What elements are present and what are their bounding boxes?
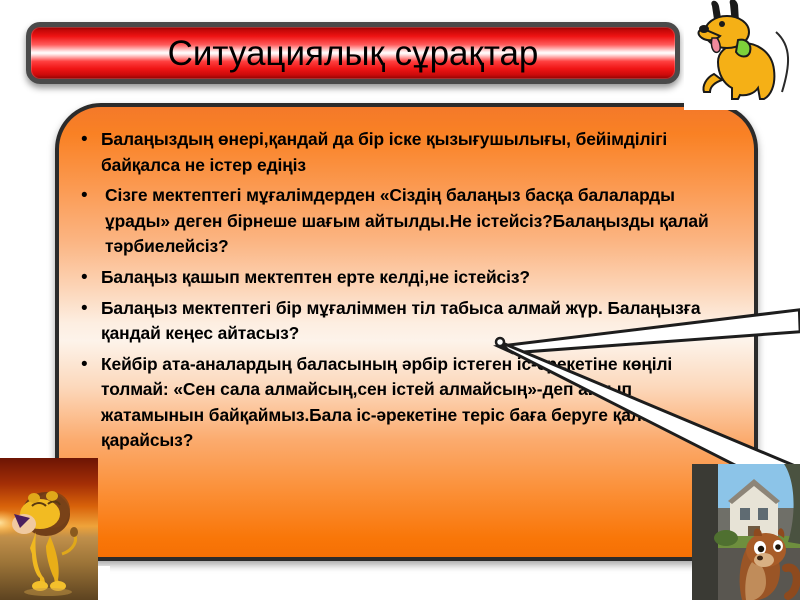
list-item-text: Сізге мектептегі мұғалімдерден «Сіздің б…: [101, 183, 736, 260]
bullet-marker-icon: •: [81, 265, 101, 291]
list-item-text: Балаңыз мектептегі бір мұғаліммен тіл та…: [101, 296, 736, 347]
page-title: Ситуациялық сұрақтар: [168, 36, 539, 71]
cartoon-dog-picture: [684, 0, 800, 110]
bullet-marker-icon: •: [81, 352, 101, 378]
list-item-text: Балаңыздың өнері,қандай да бір іске қызы…: [101, 127, 736, 178]
content-panel: • Балаңыздың өнері,қандай да бір іске қы…: [55, 103, 758, 561]
list-item-text: Балаңыз қашып мектептен ерте келді,не іс…: [101, 265, 736, 291]
question-list: • Балаңыздың өнері,қандай да бір іске қы…: [59, 107, 754, 454]
list-item-text: Кейбір ата-аналардың баласының әрбір іст…: [101, 352, 736, 454]
list-item: • Балаңыз қашып мектептен ерте келді,не …: [81, 265, 736, 291]
bullet-marker-icon: •: [81, 127, 101, 153]
cartoon-squirrel-picture: [692, 464, 800, 600]
lion-icon: [0, 458, 98, 600]
dog-icon: [684, 0, 800, 110]
bullet-marker-icon: •: [81, 183, 101, 209]
slide-title-banner: Ситуациялық сұрақтар: [26, 22, 680, 84]
squirrel-icon: [692, 464, 800, 600]
list-item: • Сізге мектептегі мұғалімдерден «Сіздің…: [81, 183, 736, 260]
list-item: • Балаңыздың өнері,қандай да бір іске қы…: [81, 127, 736, 178]
cartoon-lion-picture: [0, 458, 98, 600]
bullet-marker-icon: •: [81, 296, 101, 322]
slide-canvas: Ситуациялық сұрақтар • Балаңыздың өнері,…: [0, 0, 800, 600]
list-item: • Кейбір ата-аналардың баласының әрбір і…: [81, 352, 736, 454]
list-item: • Балаңыз мектептегі бір мұғаліммен тіл …: [81, 296, 736, 347]
